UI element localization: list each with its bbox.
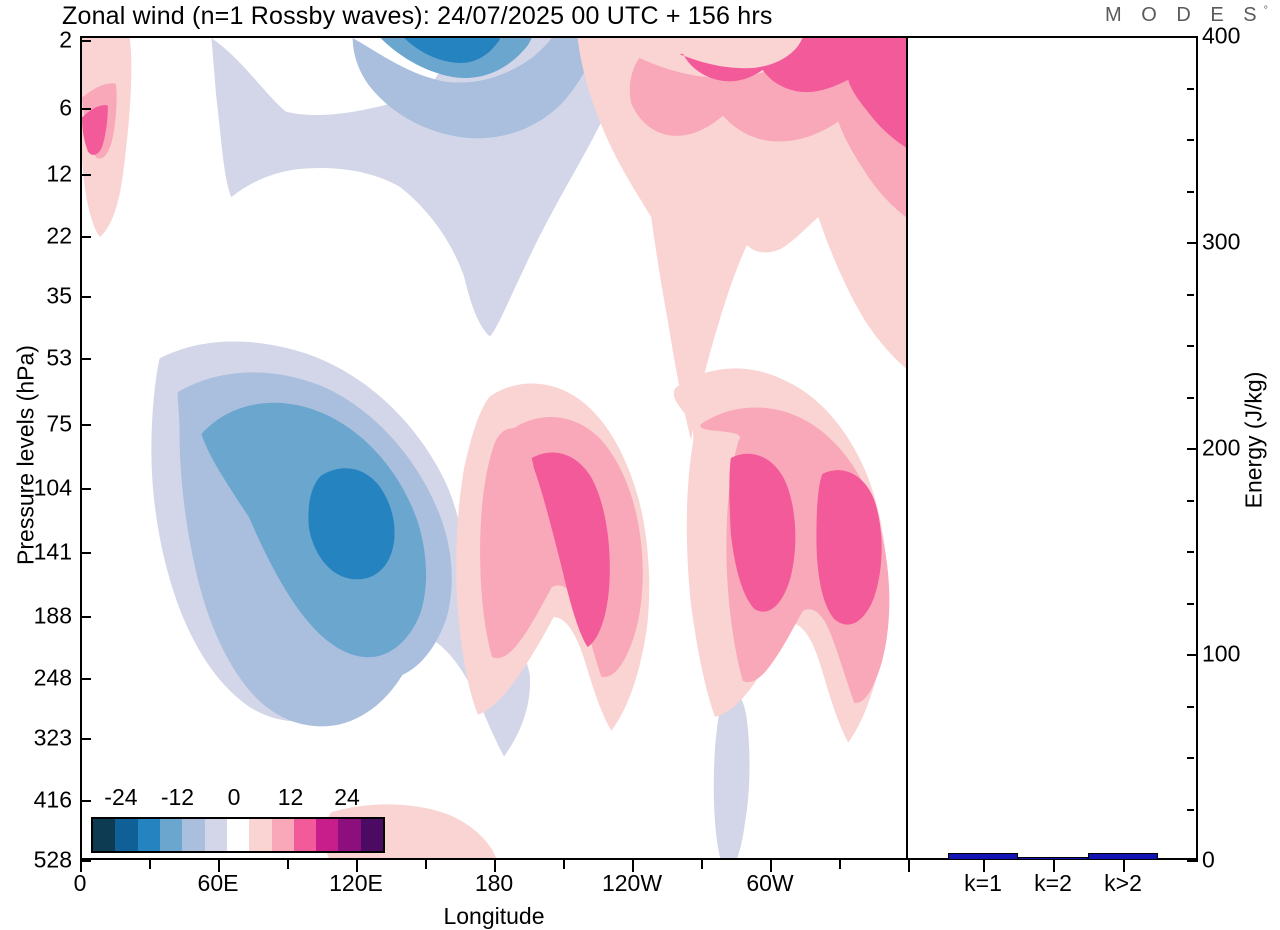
minor-tick-energy-75	[1187, 706, 1194, 708]
colorbar-swatch-6	[227, 819, 249, 851]
colorbar-swatch-10	[316, 819, 338, 851]
tick-pressure-75	[80, 424, 91, 426]
colorbar-swatch-8	[272, 819, 294, 851]
figure-root: Zonal wind (n=1 Rossby waves): 24/07/202…	[0, 0, 1280, 930]
colorbar	[91, 817, 385, 853]
tick-energy-300	[1187, 242, 1198, 244]
minor-tick-energy-250	[1187, 345, 1194, 347]
contour-plot-panel	[80, 36, 908, 860]
colorbar-swatch-1	[115, 819, 137, 851]
minor-tick-energy-25	[1187, 809, 1194, 811]
x-tick-label-60W: 60W	[746, 872, 793, 895]
minor-tick-energy-150	[1187, 551, 1194, 553]
colorbar-swatch-0	[93, 819, 115, 851]
minor-tick-energy-350	[1187, 139, 1194, 141]
colorbar-tick-24: 24	[334, 786, 360, 809]
right-tick-label-100: 100	[1202, 643, 1240, 666]
y-tick-label-6: 6	[0, 97, 72, 120]
y-tick-label-248: 248	[0, 667, 72, 690]
y-tick-label-188: 188	[0, 605, 72, 628]
minor-tick-lon-210	[563, 860, 565, 869]
colorbar-tick-0: 0	[228, 786, 241, 809]
tick-energy-100	[1187, 654, 1198, 656]
contour-field	[82, 38, 906, 858]
energy-bar-k1	[948, 853, 1018, 860]
tick-lon-360	[908, 860, 910, 872]
colorbar-swatch-3	[160, 819, 182, 851]
colorbar-swatch-5	[205, 819, 227, 851]
x-axis-title: Longitude	[443, 903, 544, 930]
minor-tick-lon-270	[701, 860, 703, 869]
minor-tick-lon-150	[425, 860, 427, 869]
tick-pressure-2	[80, 40, 91, 42]
colorbar-swatch-9	[294, 819, 316, 851]
colorbar-swatch-2	[138, 819, 160, 851]
right-tick-label-300: 300	[1202, 231, 1240, 254]
y-tick-label-2: 2	[0, 29, 72, 52]
x-tick-label-120W: 120W	[602, 872, 662, 895]
right-tick-label-0: 0	[1202, 849, 1215, 872]
tick-pressure-248	[80, 678, 91, 680]
tick-pressure-12	[80, 174, 91, 176]
energy-bar-panel	[908, 36, 1198, 860]
tick-pressure-6	[80, 108, 91, 110]
minor-tick-energy-175	[1187, 500, 1194, 502]
minor-tick-energy-125	[1187, 603, 1194, 605]
tick-pressure-141	[80, 552, 91, 554]
tick-energy-400	[1187, 36, 1198, 38]
right-axis-title: Energy (J/kg)	[1241, 310, 1268, 570]
y-tick-label-22: 22	[0, 225, 72, 248]
colorbar-tick--12: -12	[161, 786, 194, 809]
colorbar-swatch-11	[338, 819, 360, 851]
minor-tick-energy-375	[1187, 88, 1194, 90]
x-tick-label-0: 0	[74, 872, 87, 895]
bar-label-k2: k=2	[1034, 872, 1072, 895]
tick-pressure-104	[80, 488, 91, 490]
bar-label-kgt2: k>2	[1104, 872, 1142, 895]
tick-pressure-35	[80, 296, 91, 298]
tick-energy-200	[1187, 448, 1198, 450]
tick-pressure-416	[80, 800, 91, 802]
x-tick-label-120E: 120E	[329, 872, 383, 895]
minor-tick-lon-330	[839, 860, 841, 869]
minor-tick-lon-30	[149, 860, 151, 869]
tick-pressure-22	[80, 236, 91, 238]
modes-logo: M O D E S°	[1105, 4, 1268, 27]
minor-tick-energy-225	[1187, 397, 1194, 399]
tick-pressure-188	[80, 616, 91, 618]
energy-bar-kgt2	[1088, 853, 1158, 860]
minor-tick-energy-325	[1187, 191, 1194, 193]
colorbar-tick-12: 12	[278, 786, 304, 809]
y-tick-label-416: 416	[0, 789, 72, 812]
tick-pressure-323	[80, 738, 91, 740]
bar-label-k1: k=1	[964, 872, 1002, 895]
brand-mark-icon: °	[1264, 4, 1268, 16]
y-tick-label-323: 323	[0, 727, 72, 750]
colorbar-swatch-12	[361, 819, 383, 851]
page-title: Zonal wind (n=1 Rossby waves): 24/07/202…	[62, 2, 773, 31]
x-tick-label-60E: 60E	[198, 872, 239, 895]
y-tick-label-35: 35	[0, 285, 72, 308]
y-tick-label-12: 12	[0, 163, 72, 186]
tick-pressure-53	[80, 358, 91, 360]
minor-tick-energy-50	[1187, 757, 1194, 759]
minor-tick-lon-90	[287, 860, 289, 869]
y-tick-label-528: 528	[0, 849, 72, 872]
right-tick-label-400: 400	[1202, 25, 1240, 48]
x-tick-label-180: 180	[475, 872, 513, 895]
colorbar-swatch-4	[182, 819, 204, 851]
y-axis-title: Pressure levels (hPa)	[13, 325, 40, 585]
minor-tick-energy-275	[1187, 294, 1194, 296]
colorbar-swatch-7	[249, 819, 271, 851]
tick-energy-0	[1187, 860, 1198, 862]
colorbar-tick--24: -24	[104, 786, 137, 809]
right-tick-label-200: 200	[1202, 437, 1240, 460]
